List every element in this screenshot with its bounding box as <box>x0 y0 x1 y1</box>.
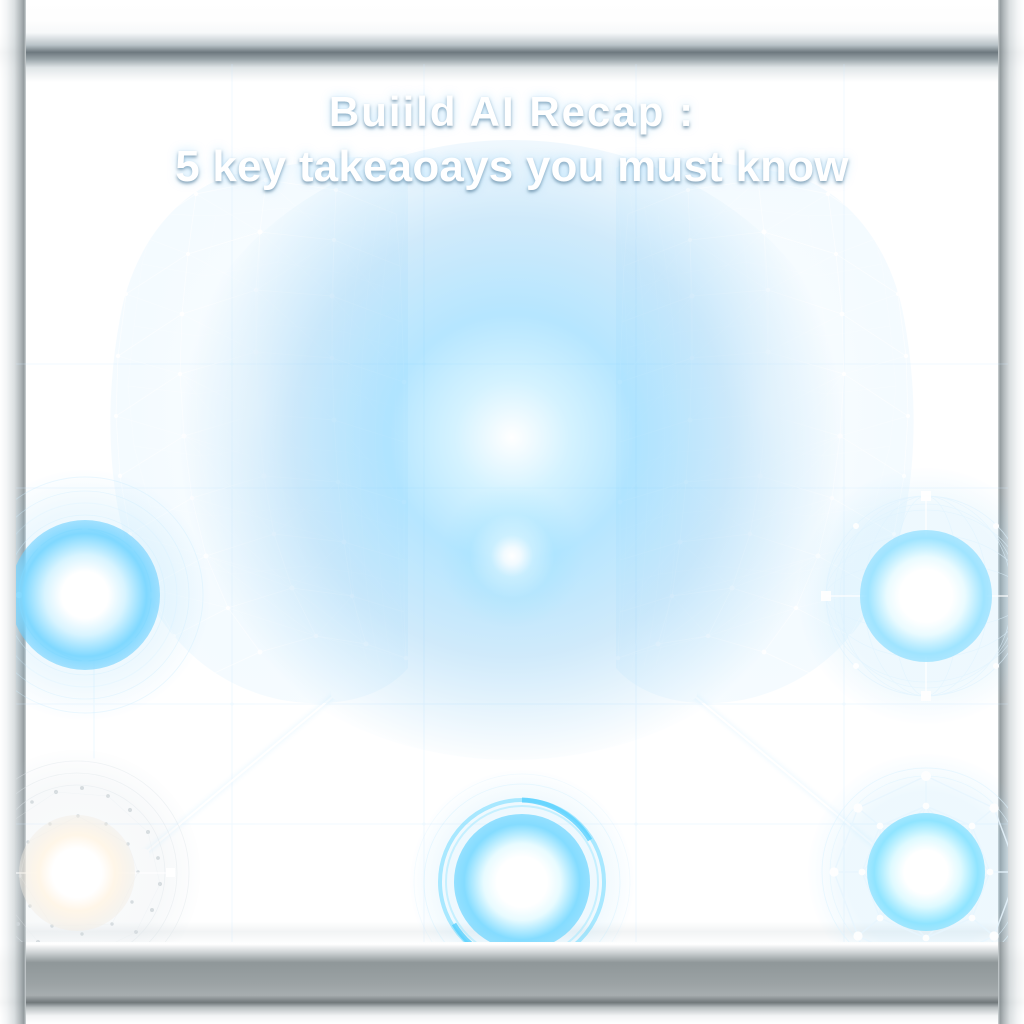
node-core <box>860 530 992 662</box>
brain-midline-fan <box>408 274 616 676</box>
network-node-left-bottom[interactable] <box>16 750 200 942</box>
display-screen: Buiild AI Recap : 5 key takeaoays you mu… <box>16 64 1008 942</box>
network-node-left-top[interactable] <box>16 470 210 720</box>
network-node-center-bottom[interactable] <box>410 770 634 942</box>
node-core <box>867 813 985 931</box>
network-node-right-bottom[interactable] <box>808 754 1008 942</box>
node-core <box>19 815 135 931</box>
node-core <box>454 814 590 942</box>
node-core <box>16 520 160 670</box>
network-node-right-top[interactable] <box>798 468 1008 724</box>
digital-brain <box>110 157 913 703</box>
poster-root: Buiild AI Recap : 5 key takeaoays you mu… <box>0 0 1024 1024</box>
